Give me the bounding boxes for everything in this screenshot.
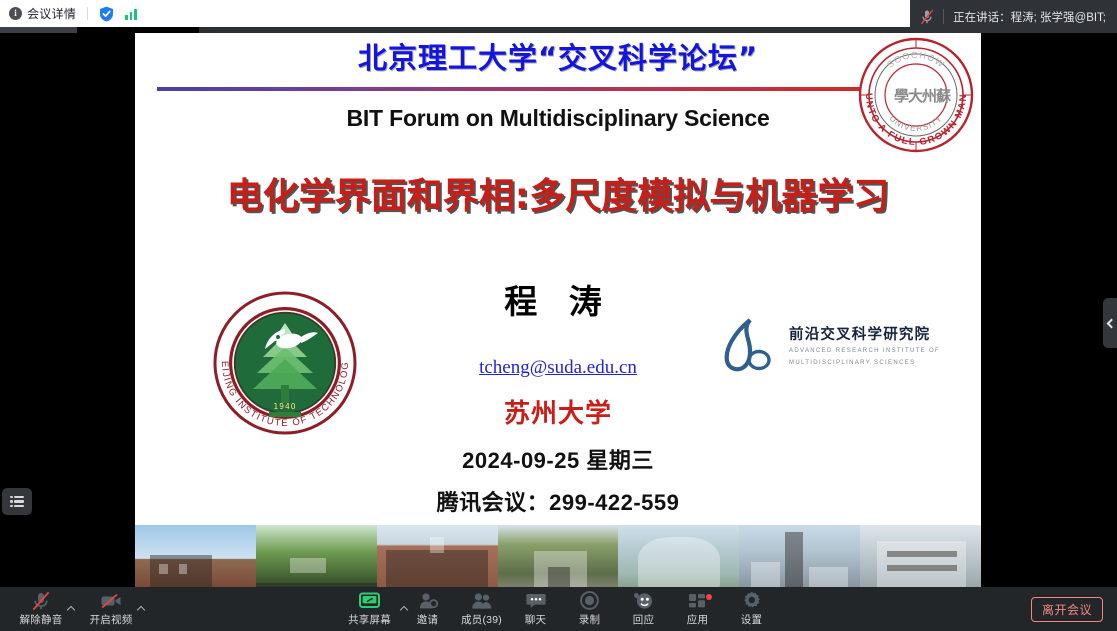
settings-button[interactable]: 设置 <box>725 587 779 631</box>
slide-subtitle-en: BIT Forum on Multidisciplinary Science <box>135 105 981 132</box>
apps-label: 应用 <box>687 612 708 627</box>
svg-text:學: 學 <box>894 87 909 105</box>
invite-button[interactable]: 邀请 <box>401 587 455 631</box>
toolbar-divider <box>87 7 88 20</box>
campus-photo-stone-gate <box>498 525 619 587</box>
campus-photo-red-brick-building <box>135 525 256 587</box>
beijing-institute-of-technology-logo: 1940 北 京 理 工 大 学 BEIJING INSTITUTE OF TE… <box>211 289 359 437</box>
svg-text:蘇: 蘇 <box>935 87 951 105</box>
gear-icon <box>742 591 761 610</box>
arims-name-cn: 前沿交叉科学研究院 <box>789 323 940 344</box>
reactions-button[interactable]: 回应 <box>617 587 671 631</box>
chevron-left-icon <box>1106 318 1116 328</box>
slide-email-link[interactable]: tcheng@suda.edu.cn <box>479 357 637 378</box>
campus-photo-research-building <box>860 525 981 587</box>
apps-notification-badge <box>706 594 712 600</box>
start-video-button[interactable]: 开启视频 <box>84 587 138 631</box>
record-button[interactable]: 录制 <box>563 587 617 631</box>
unmute-button[interactable]: 解除静音 <box>14 587 68 631</box>
slide-headline-cn: 北京理工大学“交叉科学论坛” <box>135 35 981 77</box>
reactions-label: 回应 <box>633 612 654 627</box>
active-speaker-banner: 正在讲话：程涛; 张学强@BIT; <box>910 0 1117 33</box>
shield-check-icon[interactable] <box>99 6 114 22</box>
outline-list-icon <box>10 496 24 508</box>
campus-photo-strip <box>135 525 981 587</box>
record-label: 录制 <box>579 612 600 627</box>
chevron-up-icon[interactable] <box>137 606 145 614</box>
campus-photo-modern-campus <box>739 525 860 587</box>
settings-label: 设置 <box>741 612 762 627</box>
leave-meeting-button[interactable]: 离开会议 <box>1031 597 1103 622</box>
svg-text:1940: 1940 <box>273 402 296 411</box>
invite-label: 邀请 <box>417 612 438 627</box>
presentation-slide: 北京理工大学“交叉科学论坛” BIT Forum on Multidiscipl… <box>135 27 981 587</box>
slide-date: 2024-09-25 星期三 <box>135 443 981 475</box>
signal-strength-icon[interactable] <box>125 7 137 20</box>
mic-muted-icon <box>32 591 50 610</box>
arims-logo-mark <box>720 315 780 375</box>
invite-person-icon <box>418 591 438 610</box>
active-speaker-text: 正在讲话：程涛; 张学强@BIT; <box>953 9 1106 25</box>
arims-logo: 前沿交叉科学研究院 ADVANCED RESEARCH INSTITUTE OF… <box>720 310 952 380</box>
slide-main-title-cn: 电化学界面和界相:多尺度模拟与机器学习 <box>135 167 981 219</box>
svg-text:州: 州 <box>921 87 937 105</box>
slide-meeting-number: 腾讯会议：299-422-559 <box>135 485 981 517</box>
unmute-label: 解除静音 <box>20 612 63 627</box>
campus-photo-heritage-hall <box>377 525 498 587</box>
speaker-divider <box>943 9 944 24</box>
campus-photo-garden-pond <box>256 525 377 587</box>
camera-off-icon <box>100 591 122 610</box>
chat-bubble-icon <box>526 591 546 610</box>
mic-muted-icon <box>920 9 934 25</box>
info-icon: i <box>9 7 22 20</box>
reaction-emoji-icon <box>633 591 654 610</box>
shared-screen-stage[interactable]: 北京理工大学“交叉科学论坛” BIT Forum on Multidiscipl… <box>0 27 1117 587</box>
svg-text:大: 大 <box>908 87 923 105</box>
collapse-side-panel-button[interactable] <box>1103 298 1117 348</box>
members-button[interactable]: 成员(39) <box>455 587 509 631</box>
meeting-details-label: 会议详情 <box>27 5 76 22</box>
share-screen-label: 共享屏幕 <box>348 612 391 627</box>
chat-label: 聊天 <box>525 612 546 627</box>
arims-name-en-2: MULTIDISCIPLINARY SCIENCES <box>789 359 940 368</box>
members-label: 成员(39) <box>461 612 502 627</box>
arims-name-en-1: ADVANCED RESEARCH INSTITUTE OF <box>789 347 940 356</box>
members-icon <box>471 591 493 610</box>
apps-grid-icon <box>688 591 707 610</box>
share-screen-button[interactable]: 共享屏幕 <box>339 587 401 631</box>
apps-button[interactable]: 应用 <box>671 587 725 631</box>
start-video-label: 开启视频 <box>90 612 133 627</box>
chat-button[interactable]: 聊天 <box>509 587 563 631</box>
meeting-bottom-toolbar: 解除静音 开启视频 <box>0 587 1117 631</box>
campus-photo-glass-library <box>618 525 739 587</box>
chevron-up-icon[interactable] <box>67 606 75 614</box>
slide-gradient-rule <box>157 87 957 91</box>
record-circle-icon <box>580 591 599 610</box>
share-screen-icon <box>359 591 380 610</box>
meeting-details-button[interactable]: i 会议详情 <box>9 5 76 22</box>
soochow-university-seal: 學大州蘇 SOOCHOW UNIVERSITY UNTO A FULL GROW… <box>858 37 974 153</box>
outline-list-button[interactable] <box>2 488 32 515</box>
